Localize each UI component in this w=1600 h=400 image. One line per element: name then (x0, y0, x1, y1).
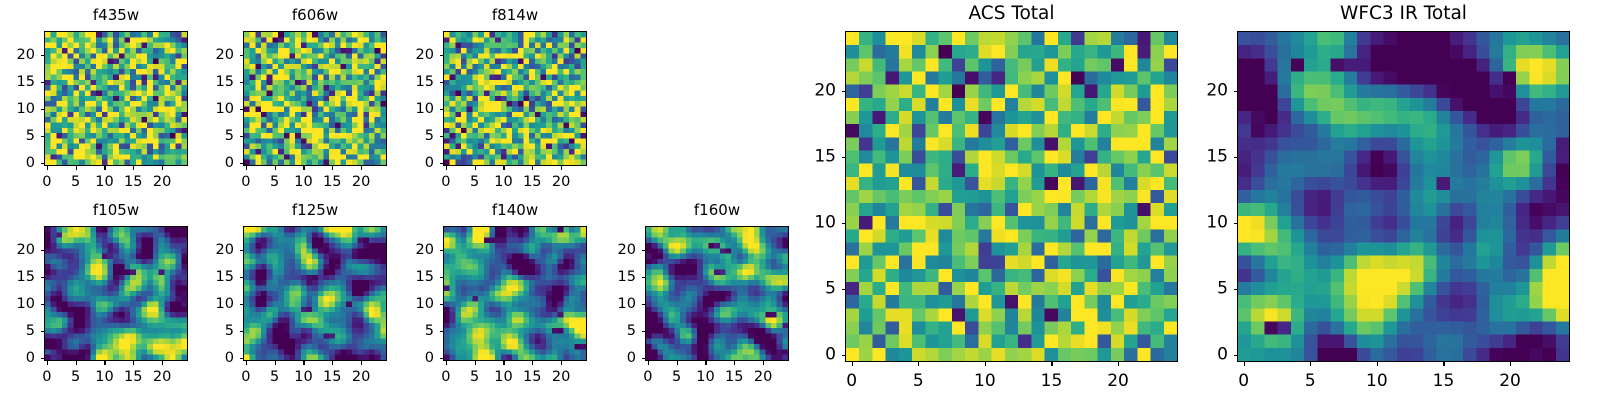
f140w-panel-xticklabel: 0 (441, 370, 450, 385)
wfc3-ir-total-panel: WFC3 IR Total0510152005101520 (1237, 5, 1570, 388)
wfc3-ir-total-panel-xticklabel: 0 (1238, 373, 1249, 390)
f105w-panel-xticklabel: 0 (42, 370, 51, 385)
f814w-panel-xtick (503, 166, 504, 170)
wfc3-ir-total-panel-yticklabel: 5 (238, 281, 1240, 298)
f160w-panel-xticklabel: 20 (754, 370, 772, 385)
f160w-panel-xticklabel: 0 (643, 370, 652, 385)
f125w-panel-xticklabel: 0 (241, 370, 250, 385)
acs-total-panel-xticklabel: 5 (913, 373, 924, 390)
wfc3-ir-total-panel-xtick (1377, 362, 1378, 366)
f160w-panel-yticklabel: 10 (0, 297, 646, 312)
f160w-panel-yticklabel: 20 (0, 243, 646, 258)
f435w-panel-xticklabel: 5 (71, 175, 80, 190)
f125w-panel-xticklabel: 5 (270, 370, 279, 385)
wfc3-ir-total-panel-xticklabel: 5 (1305, 373, 1316, 390)
f606w-panel-xticklabel: 5 (270, 175, 279, 190)
f606w-panel-xticklabel: 15 (323, 175, 341, 190)
f435w-panel-xticklabel: 20 (153, 175, 171, 190)
wfc3-ir-total-panel-image (1238, 32, 1569, 361)
f105w-panel-xticklabel: 10 (95, 370, 113, 385)
wfc3-ir-total-panel-xticklabel: 15 (1433, 373, 1455, 390)
f160w-panel-xticklabel: 5 (672, 370, 681, 385)
wfc3-ir-total-panel-xticklabel: 10 (1366, 373, 1388, 390)
f814w-panel-xtick (446, 166, 447, 170)
f125w-panel-xticklabel: 10 (294, 370, 312, 385)
wfc3-ir-total-panel-xtick (1310, 362, 1311, 366)
f606w-panel-xticklabel: 20 (352, 175, 370, 190)
f140w-panel-xticklabel: 5 (470, 370, 479, 385)
acs-total-panel-xticklabel: 0 (846, 373, 857, 390)
f435w-panel-title: f435w (44, 8, 188, 23)
acs-total-panel: ACS Total0510152005101520 (845, 5, 1178, 388)
wfc3-ir-total-panel-xtick (1244, 362, 1245, 366)
f105w-panel-xticklabel: 20 (153, 370, 171, 385)
f125w-panel-xticklabel: 20 (352, 370, 370, 385)
f814w-panel-xticklabel: 15 (523, 175, 541, 190)
f160w-panel-xticklabel: 10 (696, 370, 714, 385)
f105w-panel-xticklabel: 5 (71, 370, 80, 385)
f435w-panel-xticklabel: 0 (42, 175, 51, 190)
f435w-panel-xticklabel: 10 (95, 175, 113, 190)
f814w-panel-xticklabel: 5 (470, 175, 479, 190)
f814w-panel-yticklabel: 5 (0, 129, 444, 144)
f125w-panel-xticklabel: 15 (323, 370, 341, 385)
f814w-panel-yticklabel: 10 (0, 102, 444, 117)
f606w-panel-title: f606w (243, 8, 387, 23)
wfc3-ir-total-panel-xtick (1443, 362, 1444, 366)
f105w-panel-xticklabel: 15 (124, 370, 142, 385)
f814w-panel-xtick (475, 166, 476, 170)
acs-total-panel-xticklabel: 10 (974, 373, 996, 390)
f140w-panel-xticklabel: 20 (552, 370, 570, 385)
wfc3-ir-total-panel-yticklabel: 20 (238, 82, 1240, 99)
f814w-panel-xticklabel: 10 (494, 175, 512, 190)
f606w-panel-xticklabel: 10 (294, 175, 312, 190)
acs-total-panel-xticklabel: 15 (1041, 373, 1063, 390)
f814w-panel-yticklabel: 20 (0, 48, 444, 63)
f160w-panel-yticklabel: 5 (0, 324, 646, 339)
wfc3-ir-total-panel-yticklabel: 0 (238, 347, 1240, 364)
f814w-panel-xtick (532, 166, 533, 170)
f435w-panel-xticklabel: 15 (124, 175, 142, 190)
f814w-panel-xticklabel: 20 (552, 175, 570, 190)
wfc3-ir-total-panel-xticklabel: 20 (1499, 373, 1521, 390)
acs-total-panel-title: ACS Total (845, 5, 1178, 24)
f814w-panel-xticklabel: 0 (441, 175, 450, 190)
acs-total-panel-axes (845, 31, 1178, 362)
wfc3-ir-total-panel-title: WFC3 IR Total (1237, 5, 1570, 24)
wfc3-ir-total-panel-yticklabel: 15 (238, 148, 1240, 165)
heatmap-figure: f435w0510152005101520f606w05101520051015… (0, 0, 1600, 400)
f606w-panel-xticklabel: 0 (241, 175, 250, 190)
f160w-panel-xticklabel: 15 (725, 370, 743, 385)
f140w-panel-xticklabel: 15 (523, 370, 541, 385)
f814w-panel-title: f814w (443, 8, 587, 23)
f140w-panel-xticklabel: 10 (494, 370, 512, 385)
f814w-panel-xtick (561, 166, 562, 170)
wfc3-ir-total-panel-yticklabel: 10 (238, 214, 1240, 231)
wfc3-ir-total-panel-xtick (1510, 362, 1511, 366)
wfc3-ir-total-panel-axes (1237, 31, 1570, 362)
acs-total-panel-xticklabel: 20 (1107, 373, 1129, 390)
